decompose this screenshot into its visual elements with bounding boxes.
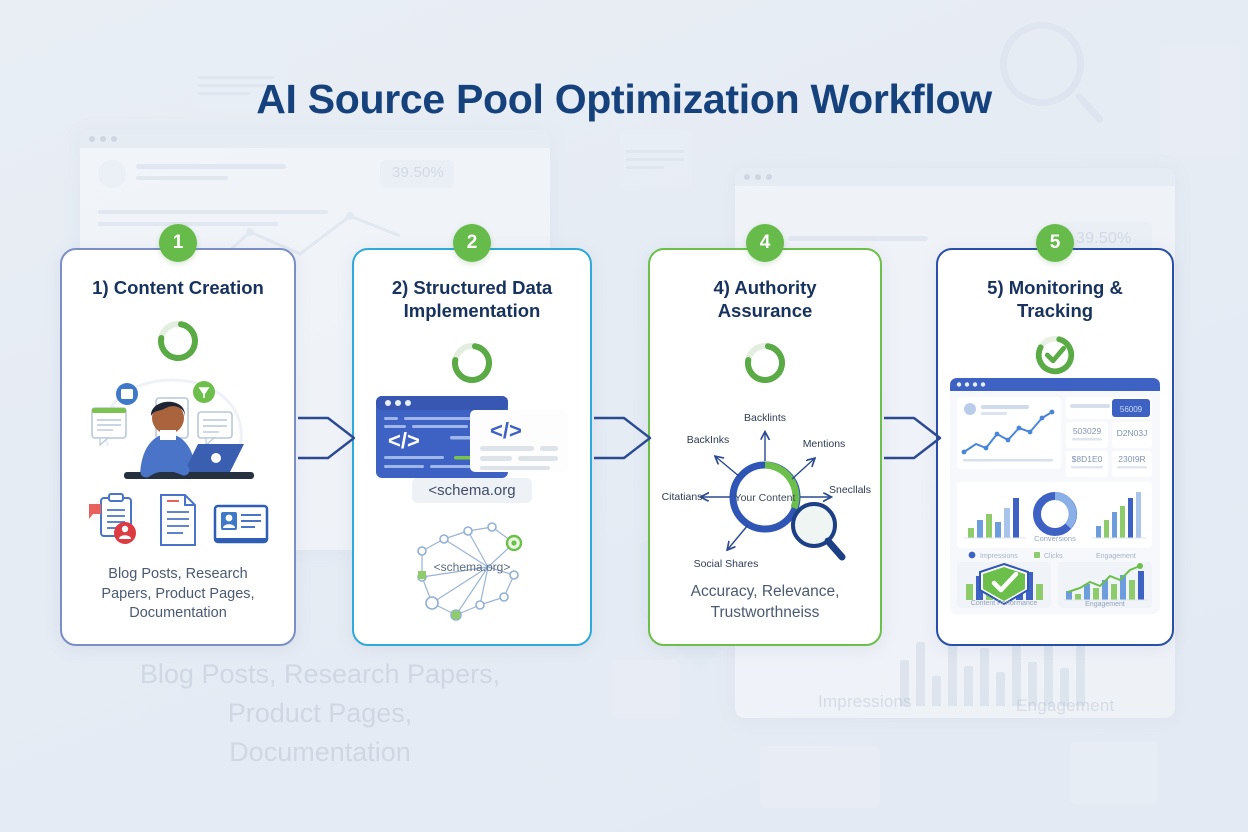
progress-ring-1 bbox=[154, 314, 202, 368]
svg-text:Citatians: Citatians bbox=[662, 491, 703, 503]
svg-text:Conversions: Conversions bbox=[1034, 534, 1076, 543]
svg-text:<schema.org>: <schema.org> bbox=[434, 560, 511, 574]
page-title: AI Source Pool Optimization Workflow bbox=[0, 76, 1248, 123]
progress-ring-5-check bbox=[1032, 332, 1078, 378]
connector-arrow-2-4 bbox=[592, 406, 654, 470]
ghost-metric-label-2: 39.50% bbox=[1076, 230, 1131, 248]
content-type-icons bbox=[87, 492, 269, 548]
svg-text:Snecllals: Snecllals bbox=[829, 484, 871, 496]
ghost-document-topcenter bbox=[620, 130, 692, 190]
progress-ring-4 bbox=[741, 336, 789, 390]
clipboard-alert-icon bbox=[87, 492, 143, 548]
workflow-steps: 1 1) Content Creation bbox=[0, 248, 1248, 658]
step-caption-1: Blog Posts, Research Papers, Product Pag… bbox=[101, 565, 254, 628]
step-card-monitoring-tracking[interactable]: 5 5) Monitoring & Tracking bbox=[936, 248, 1174, 646]
schema-network-graph: <schema.org> bbox=[392, 515, 552, 627]
ghost-label-impressions: Impressions bbox=[818, 692, 912, 712]
connector-arrow-4-5 bbox=[882, 406, 944, 470]
ghost-metric-label: 39.50% bbox=[392, 164, 444, 181]
step-caption-4: Accuracy, Relevance, Trustworthneiss bbox=[691, 582, 840, 628]
document-icon bbox=[157, 492, 199, 548]
progress-ring-2 bbox=[448, 336, 496, 390]
ghost-document-bottomright bbox=[1070, 742, 1158, 804]
ghost-document-bottomleft bbox=[612, 660, 680, 718]
svg-text:</>: </> bbox=[388, 428, 420, 453]
svg-text:Engagement: Engagement bbox=[1096, 553, 1136, 560]
svg-text:Engagement: Engagement bbox=[1085, 601, 1125, 608]
ghost-document-bottomcenter bbox=[760, 746, 880, 808]
ghost-label-engagement: Engagement bbox=[1016, 696, 1114, 716]
ghost-caption-echo: Blog Posts, Research Papers, Product Pag… bbox=[110, 655, 530, 772]
svg-text:230I9R: 230I9R bbox=[1118, 454, 1145, 464]
svg-text:56009: 56009 bbox=[1120, 405, 1143, 414]
svg-text:Content Performance: Content Performance bbox=[971, 600, 1038, 607]
svg-text:D2N03J: D2N03J bbox=[1117, 428, 1148, 438]
step-badge-1: 1 bbox=[159, 224, 197, 262]
ghost-caption-line-1: Blog Posts, Research Papers, Product Pag… bbox=[140, 659, 500, 767]
illustration-code-window: </> </> <schema.org bbox=[368, 390, 576, 628]
hub-label: Your Content bbox=[735, 492, 796, 504]
svg-text:Clicks: Clicks bbox=[1044, 553, 1063, 560]
svg-text:</>: </> bbox=[490, 418, 522, 443]
svg-text:503029: 503029 bbox=[1073, 426, 1102, 436]
step-title-1: 1) Content Creation bbox=[92, 276, 264, 300]
svg-text:Mentions: Mentions bbox=[803, 438, 846, 450]
illustration-analytics-dashboard: 56009 503029 D2N03J $8D1E0 230I9R bbox=[952, 378, 1158, 622]
step-badge-2: 2 bbox=[453, 224, 491, 262]
svg-text:Backlints: Backlints bbox=[744, 412, 786, 424]
svg-text:$8D1E0: $8D1E0 bbox=[1072, 454, 1103, 464]
step-card-content-creation[interactable]: 1 1) Content Creation bbox=[60, 248, 296, 646]
step-badge-4: 4 bbox=[746, 224, 784, 262]
step-card-authority-assurance[interactable]: 4 4) Authority Assurance Your Content bbox=[648, 248, 882, 646]
illustration-authority-hub: Your Content Backlints BackInks Mentions… bbox=[664, 390, 866, 582]
step-title-2: 2) Structured Data Implementation bbox=[368, 276, 576, 322]
svg-text:BackInks: BackInks bbox=[687, 434, 730, 446]
step-badge-5: 5 bbox=[1036, 224, 1074, 262]
connector-arrow-1-2 bbox=[296, 406, 358, 470]
illustration-person-at-laptop bbox=[76, 368, 280, 565]
svg-text:Impressions: Impressions bbox=[980, 553, 1018, 560]
schema-org-label: <schema.org bbox=[412, 478, 531, 503]
svg-text:Social Shares: Social Shares bbox=[694, 558, 759, 570]
step-title-5: 5) Monitoring & Tracking bbox=[952, 276, 1158, 322]
step-card-structured-data[interactable]: 2 2) Structured Data Implementation </> bbox=[352, 248, 592, 646]
step-title-4: 4) Authority Assurance bbox=[664, 276, 866, 322]
profile-card-icon bbox=[213, 502, 269, 548]
